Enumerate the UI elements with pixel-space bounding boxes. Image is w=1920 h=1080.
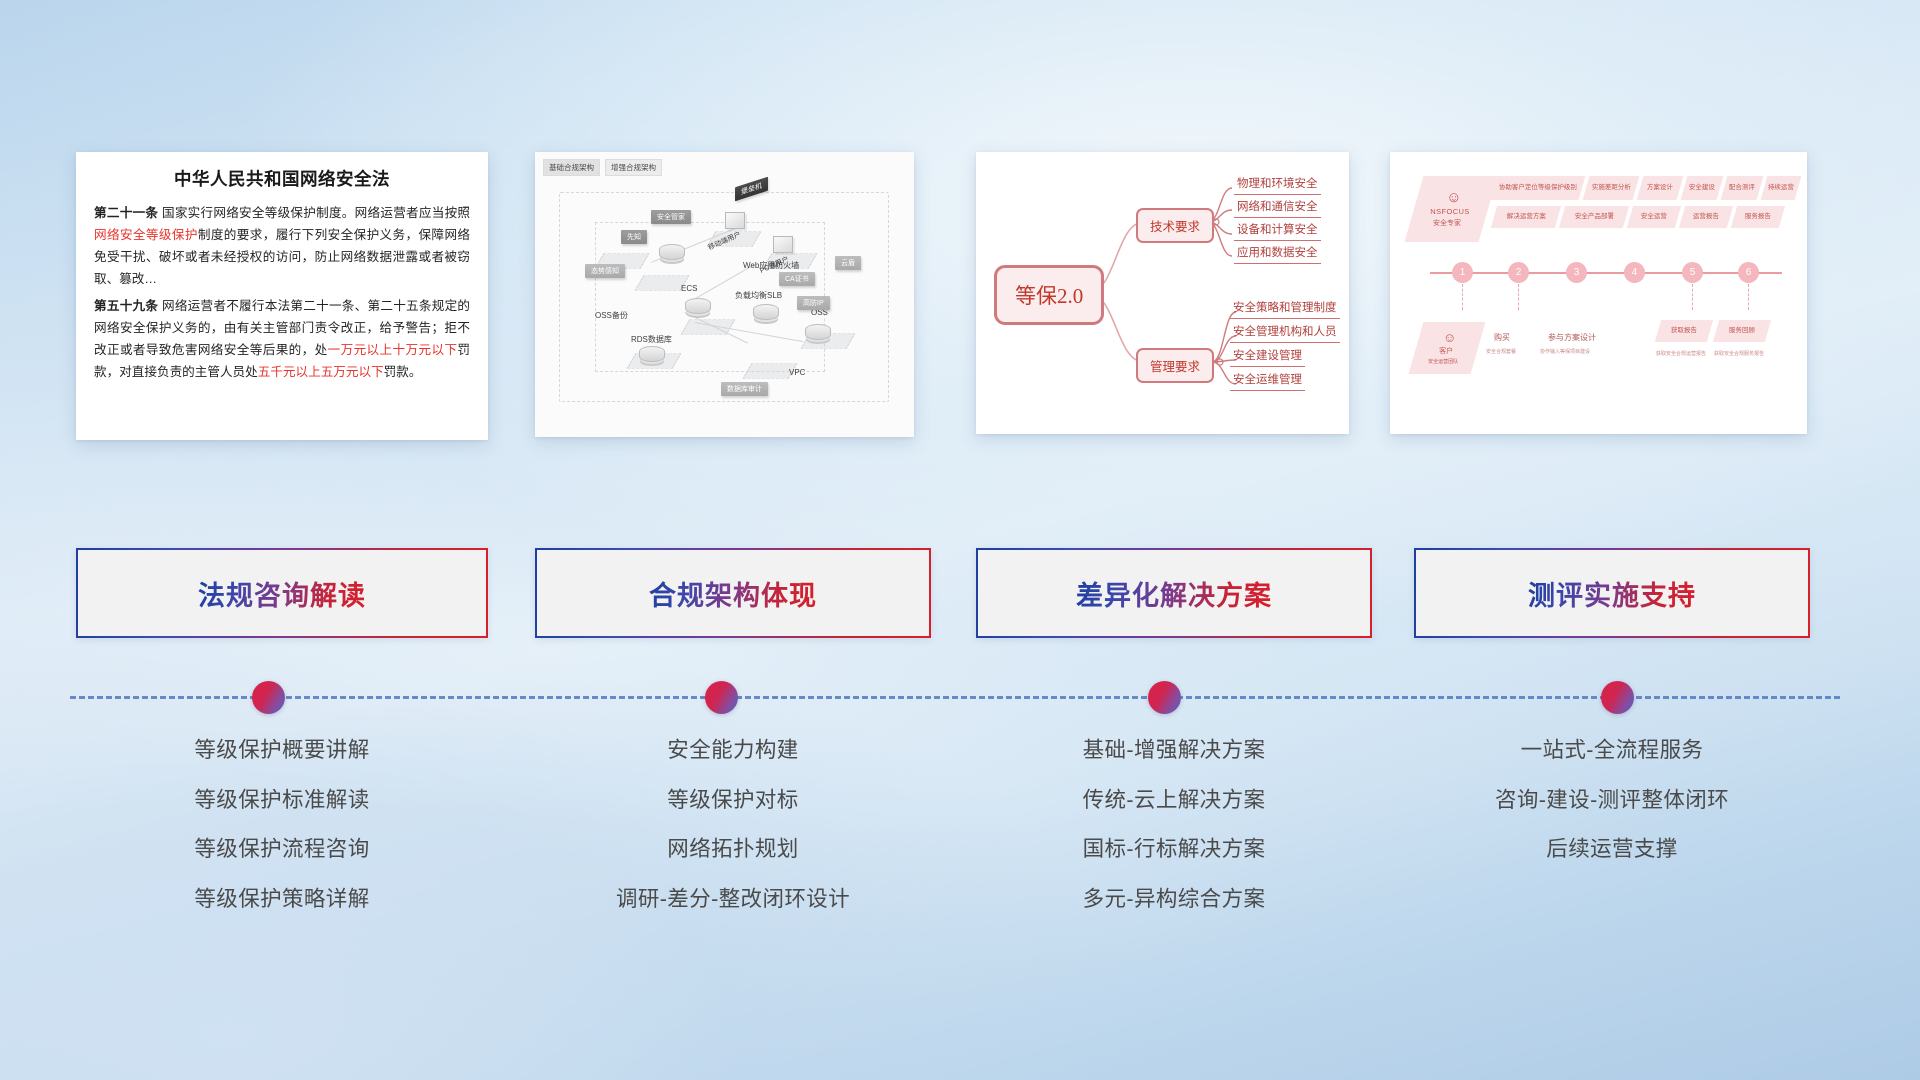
article-21-highlight: 网络安全等级保护 (94, 228, 198, 242)
banner-differentiated-solution[interactable]: 差异化解决方案 (976, 548, 1372, 638)
process-bottom-label-design: 参与方案设计 (1548, 332, 1596, 343)
process-bottom-sub-design: 协作输入等保项目建设 (1540, 348, 1590, 355)
chip-ca-cert: CA证书 (779, 272, 815, 286)
text-column-4: 一站式-全流程服务 咨询-建设-测评整体闭环 后续运营支撑 (1414, 740, 1810, 889)
customer-label: 客户 (1439, 346, 1453, 356)
mindmap-leaf-network-communication: 网络和通信安全 (1234, 197, 1321, 218)
banner-label-2: 合规架构体现 (649, 574, 817, 613)
process-second-band-4: 运营报告 (1679, 206, 1733, 228)
mindmap-leaf-application-data: 应用和数据安全 (1234, 243, 1321, 264)
customer-person-icon: ☺ (1443, 331, 1456, 344)
timeline-dot-4[interactable] (1601, 681, 1634, 714)
architecture-tabs[interactable]: 基础合规架构 增强合规架构 (543, 159, 662, 176)
banner-assessment-support[interactable]: 测评实施支持 (1414, 548, 1810, 638)
article-59-text-c: 罚款。 (384, 365, 422, 379)
article-59-label: 第五十九条 (94, 299, 158, 313)
label-vpc: VPC (789, 368, 805, 377)
column-4-item-3: 后续运营支撑 (1414, 839, 1810, 861)
article-21-text-a: 国家实行网络安全等级保护制度。网络运营者应当按照 (158, 206, 470, 220)
chip-xianzhi: 先知 (621, 230, 647, 244)
process-bottom-sub-report: 获取安全合规运营报告 (1656, 350, 1706, 357)
process-step-5[interactable]: 5 (1682, 262, 1703, 283)
chip-anti-ddos-ip: 高防IP (797, 296, 830, 310)
process-top-band-4: 安全建设 (1681, 176, 1724, 200)
iso-cylinder-rds (639, 346, 665, 362)
chip-situation-awareness: 态势感知 (585, 264, 625, 278)
process-step-3[interactable]: 3 (1566, 262, 1587, 283)
column-2-item-3: 网络拓扑规划 (535, 839, 931, 861)
process-connector-6 (1748, 284, 1749, 310)
column-2-item-1: 安全能力构建 (535, 740, 931, 762)
tab-basic-architecture[interactable]: 基础合规架构 (543, 159, 600, 176)
card-architecture-diagram[interactable]: 基础合规架构 增强合规架构 (535, 152, 914, 437)
timeline-dot-1[interactable] (252, 681, 285, 714)
column-4-item-2: 咨询-建设-测评整体闭环 (1414, 790, 1810, 812)
image-card-row: 中华人民共和国网络安全法 第二十一条 国家实行网络安全等级保护制度。网络运营者应… (0, 152, 1920, 442)
mindmap-leaf-security-ops: 安全运维管理 (1230, 370, 1305, 391)
iso-cylinder-ecs (685, 298, 711, 314)
process-top-band-5: 配合测评 (1721, 176, 1764, 200)
column-1-item-3: 等级保护流程咨询 (76, 839, 488, 861)
architecture-canvas: 基础合规架构 增强合规架构 (535, 152, 914, 437)
process-bottom-band-review: 服务回顾 (1713, 320, 1771, 342)
text-column-1: 等级保护概要讲解 等级保护标准解读 等级保护流程咨询 等级保护策略详解 (76, 740, 488, 938)
iso-box-mobile-user (725, 212, 745, 229)
banner-label-3: 差异化解决方案 (1076, 574, 1272, 613)
legal-article-21: 第二十一条 国家实行网络安全等级保护制度。网络运营者应当按照网络安全等级保护制度… (94, 202, 470, 291)
process-connector-2 (1518, 284, 1519, 310)
label-rds: RDS数据库 (631, 334, 672, 345)
process-second-band-1: 解决运营方案 (1491, 206, 1561, 228)
mindmap-leaf-security-policy: 安全策略和管理制度 (1230, 298, 1340, 319)
process-step-2[interactable]: 2 (1508, 262, 1529, 283)
expert-person-icon: ☺ (1447, 190, 1462, 205)
iso-box-pc-user (773, 236, 793, 253)
process-connector-1 (1462, 284, 1463, 310)
process-step-4[interactable]: 4 (1624, 262, 1645, 283)
process-customer-badge: ☺ 客户 安全运营团队 (1409, 322, 1486, 374)
column-3-item-3: 国标-行标解决方案 (976, 839, 1372, 861)
mindmap-leaf-security-org: 安全管理机构和人员 (1230, 322, 1340, 343)
banner-compliance-architecture[interactable]: 合规架构体现 (535, 548, 931, 638)
card-mindmap[interactable]: 等保2.0 技术要求 管理要求 物理和环境安全 网络和通信安全 设备和计算安全 … (976, 152, 1349, 434)
process-second-band-3: 安全运营 (1627, 206, 1681, 228)
legal-document-title: 中华人民共和国网络安全法 (94, 166, 470, 191)
timeline-dashed-line (70, 696, 1840, 699)
article-21-label: 第二十一条 (94, 206, 158, 220)
timeline-dot-2[interactable] (705, 681, 738, 714)
column-2-item-2: 等级保护对标 (535, 790, 931, 812)
column-3-item-4: 多元-异构综合方案 (976, 889, 1372, 911)
text-column-3: 基础-增强解决方案 传统-云上解决方案 国标-行标解决方案 多元-异构综合方案 (976, 740, 1372, 938)
chip-security-butler: 安全管家 (651, 210, 691, 224)
process-top-band-6: 持续运营 (1761, 176, 1802, 200)
mindmap-canvas: 等保2.0 技术要求 管理要求 物理和环境安全 网络和通信安全 设备和计算安全 … (976, 152, 1349, 434)
process-rail (1430, 272, 1782, 274)
legal-document-body: 中华人民共和国网络安全法 第二十一条 国家实行网络安全等级保护制度。网络运营者应… (76, 152, 488, 393)
banner-regulatory-consulting[interactable]: 法规咨询解读 (76, 548, 488, 638)
column-2-item-4: 调研-差分-整改闭环设计 (535, 889, 931, 911)
label-ecs: ECS (681, 284, 697, 293)
mindmap-leaf-device-computing: 设备和计算安全 (1234, 220, 1321, 241)
card-service-process[interactable]: ☺ NSFOCUS 安全专家 协助客户定位等级保护级别 实施差距分析 方案设计 … (1390, 152, 1807, 434)
mindmap-root-node[interactable]: 等保2.0 (994, 265, 1104, 325)
column-1-item-4: 等级保护策略详解 (76, 889, 488, 911)
column-1-item-2: 等级保护标准解读 (76, 790, 488, 812)
process-top-band-3: 方案设计 (1637, 176, 1684, 200)
process-bottom-band-report: 获取报告 (1655, 320, 1713, 342)
chip-yundun: 云盾 (835, 256, 861, 270)
card-legal-document[interactable]: 中华人民共和国网络安全法 第二十一条 国家实行网络安全等级保护制度。网络运营者应… (76, 152, 488, 440)
text-column-2: 安全能力构建 等级保护对标 网络拓扑规划 调研-差分-整改闭环设计 (535, 740, 931, 938)
banner-label-4: 测评实施支持 (1528, 574, 1696, 613)
timeline-dot-3[interactable] (1148, 681, 1181, 714)
process-step-1[interactable]: 1 (1452, 262, 1473, 283)
process-bottom-sub-review: 获取安全合规服务报告 (1714, 350, 1764, 357)
process-connector-5 (1692, 284, 1693, 310)
column-3-item-2: 传统-云上解决方案 (976, 790, 1372, 812)
mindmap-leaf-physical-environment: 物理和环境安全 (1234, 174, 1321, 195)
tab-enhanced-architecture[interactable]: 增强合规架构 (605, 159, 662, 176)
iso-cylinder-oss (805, 324, 831, 340)
chip-db-audit: 数据库审计 (721, 382, 768, 396)
mindmap-branch-management[interactable]: 管理要求 (1136, 348, 1214, 383)
process-canvas: ☺ NSFOCUS 安全专家 协助客户定位等级保护级别 实施差距分析 方案设计 … (1390, 152, 1807, 434)
banner-label-1: 法规咨询解读 (198, 574, 366, 613)
column-1-item-1: 等级保护概要讲解 (76, 740, 488, 762)
process-second-band-2: 安全产品部署 (1559, 206, 1629, 228)
label-oss-backup: OSS备份 (595, 310, 628, 321)
iso-cylinder-anzhiguanjia (659, 244, 685, 260)
expert-role: 安全专家 (1433, 218, 1461, 228)
legal-article-59: 第五十九条 网络运营者不履行本法第二十一条、第二十五条规定的网络安全保护义务的，… (94, 295, 470, 384)
process-second-band-5: 服务报告 (1731, 206, 1785, 228)
label-slb: 负载均衡SLB (735, 290, 782, 301)
mindmap-branch-technical[interactable]: 技术要求 (1136, 208, 1214, 243)
process-top-band-1: 协助客户定位等级保护级别 (1491, 176, 1586, 200)
slide-canvas: 中华人民共和国网络安全法 第二十一条 国家实行网络安全等级保护制度。网络运营者应… (0, 0, 1920, 1080)
process-expert-badge: ☺ NSFOCUS 安全专家 (1405, 176, 1498, 242)
mindmap-leaf-security-construction: 安全建设管理 (1230, 346, 1305, 367)
column-4-item-1: 一站式-全流程服务 (1414, 740, 1810, 762)
customer-sub: 安全运营团队 (1428, 358, 1458, 365)
process-top-band-2: 实施差距分析 (1583, 176, 1640, 200)
iso-cylinder-slb (753, 304, 779, 320)
article-59-highlight-a: 一万元以上十万元以下 (328, 343, 458, 357)
expert-brand: NSFOCUS (1431, 207, 1470, 216)
process-bottom-sub-buy: 安全合规套餐 (1486, 348, 1516, 355)
column-3-item-1: 基础-增强解决方案 (976, 740, 1372, 762)
process-step-6[interactable]: 6 (1738, 262, 1759, 283)
process-bottom-label-buy: 购买 (1494, 332, 1510, 343)
article-59-highlight-b: 五千元以上五万元以下 (258, 365, 384, 379)
